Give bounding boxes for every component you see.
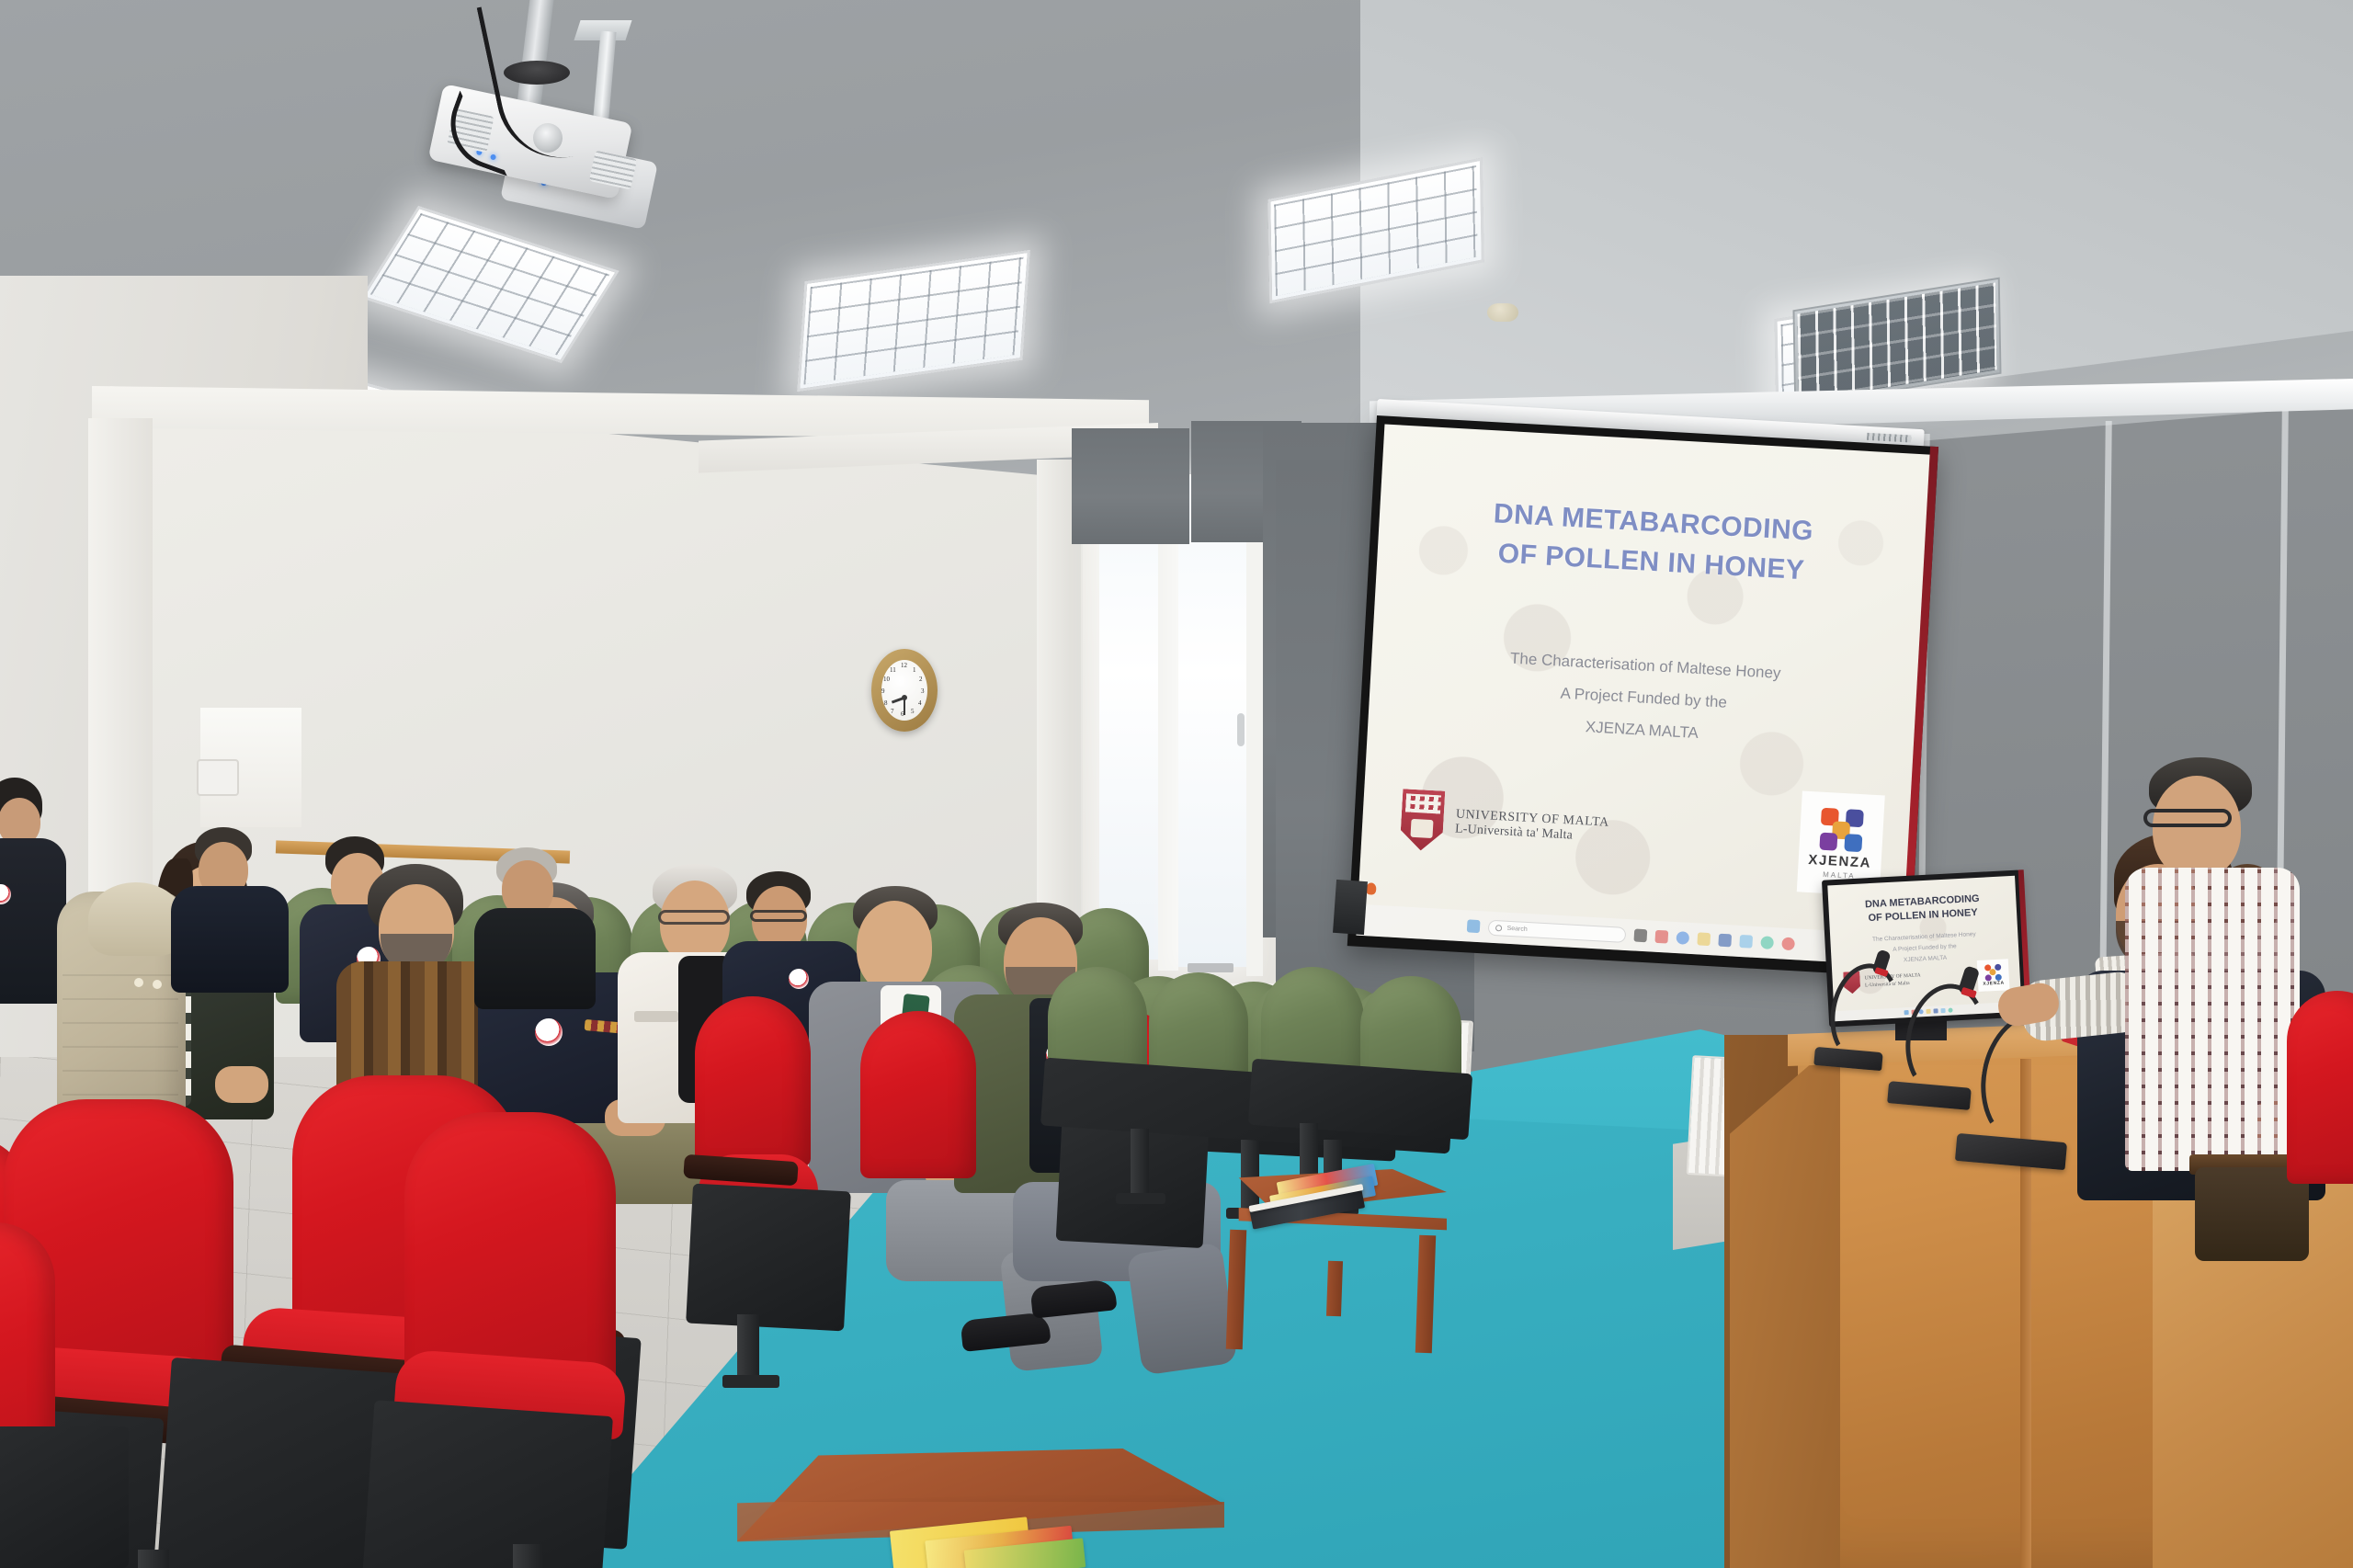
- glasses-icon: [658, 910, 730, 925]
- coat-snap-icon: [153, 980, 162, 989]
- clock-face: 12 1 2 3 4 5 6 7 8 9 10 11: [881, 660, 927, 721]
- word-icon[interactable]: [1718, 934, 1732, 948]
- seat-red[interactable]: [2287, 991, 2353, 1184]
- clock-numeral: 10: [883, 676, 890, 683]
- pdf-icon[interactable]: [1654, 930, 1668, 944]
- xjenza-name: XJENZA: [1983, 981, 2005, 987]
- folder-icon[interactable]: [1697, 932, 1711, 946]
- person-torso: [474, 908, 596, 1009]
- screen-roller-knob[interactable]: [1867, 433, 1911, 443]
- clock-numeral: 11: [890, 666, 896, 674]
- lecture-hall-photo: 12 1 2 3 4 5 6 7 8 9 10 11 DNA METABARCO…: [0, 0, 2353, 1568]
- clock-numeral: 7: [891, 708, 894, 715]
- glasses-icon: [2143, 809, 2232, 827]
- chrome-icon[interactable]: [1676, 931, 1689, 945]
- table-leg: [1226, 1230, 1247, 1350]
- coffee-table: [1221, 1169, 1461, 1381]
- seat-folded-panel[interactable]: [361, 1400, 613, 1568]
- edge-icon[interactable]: [1760, 936, 1774, 949]
- xjenza-malta-logo: XJENZA: [1977, 959, 2010, 992]
- xjenza-mark-icon: [1984, 964, 2002, 982]
- recorder-icon[interactable]: [1781, 937, 1795, 950]
- clock-numeral: 12: [901, 662, 907, 669]
- university-logo-text: UNIVERSITY OF MALTA L-Università ta' Mal…: [1455, 807, 1610, 845]
- slide-logo-row: UNIVERSITY OF MALTA L-Università ta' Mal…: [1398, 768, 1884, 896]
- wall-clock: 12 1 2 3 4 5 6 7 8 9 10 11: [871, 649, 938, 732]
- checked-shirt: [2125, 868, 2300, 1171]
- seat-foot: [1116, 1193, 1165, 1204]
- xjenza-name: XJENZA: [1808, 852, 1872, 871]
- clock-numeral: 3: [921, 687, 925, 695]
- clock-numeral: 4: [918, 699, 922, 707]
- clock-numeral: 2: [919, 676, 923, 683]
- coat-snap-icon: [134, 978, 143, 987]
- table-leg: [1326, 1261, 1343, 1317]
- clock-numeral: 5: [911, 708, 915, 715]
- attendee-back-row-1: [478, 847, 616, 1004]
- seat-red[interactable]: [404, 1112, 616, 1388]
- jacket-pocket: [634, 1011, 678, 1022]
- attendee-back-row-2: [171, 827, 309, 993]
- university-shield-icon: [1400, 789, 1446, 851]
- window-handle[interactable]: [1237, 713, 1245, 746]
- monitor-slide-title: DNA METABARCODING OF POLLEN IN HONEY: [1828, 891, 2017, 928]
- ceiling-projector: [415, 0, 691, 241]
- corner-watermark-icon: [1365, 882, 1390, 902]
- slide-subtitle: The Characterisation of Maltese Honey A …: [1368, 635, 1920, 762]
- clock-center-pin: [902, 695, 907, 700]
- slide-title: DNA METABARCODING OF POLLEN IN HONEY: [1377, 488, 1928, 597]
- coffee-table-foreground: [717, 1449, 1232, 1568]
- xjenza-mark-icon: [1818, 807, 1865, 854]
- seat-support-post: [513, 1544, 542, 1568]
- person-torso: [171, 886, 289, 993]
- clock-numeral: 9: [881, 687, 885, 695]
- smoke-detector: [1487, 303, 1518, 322]
- seat-support-post: [1131, 1129, 1149, 1195]
- seat-folded-panel[interactable]: [0, 1426, 129, 1568]
- clock-numeral: 1: [913, 666, 916, 674]
- coat-hood: [88, 882, 184, 956]
- seat-red[interactable]: [860, 1011, 976, 1178]
- person-head: [2153, 776, 2241, 879]
- mail-icon[interactable]: [1739, 935, 1753, 949]
- window-blind[interactable]: [1072, 428, 1189, 544]
- seat-support-post: [138, 1550, 169, 1568]
- seating-block-red-foreground-2: [368, 1112, 735, 1568]
- glasses-icon: [750, 910, 807, 922]
- university-of-malta-logo: UNIVERSITY OF MALTA L-Università ta' Mal…: [1400, 789, 1610, 861]
- wall-socket: [197, 759, 239, 796]
- microphone-base[interactable]: [1955, 1133, 2067, 1170]
- clock-numeral: 8: [884, 699, 888, 707]
- table-leg: [1415, 1235, 1436, 1354]
- linkedin-icon[interactable]: [1633, 928, 1647, 942]
- seat-support-post: [737, 1314, 759, 1381]
